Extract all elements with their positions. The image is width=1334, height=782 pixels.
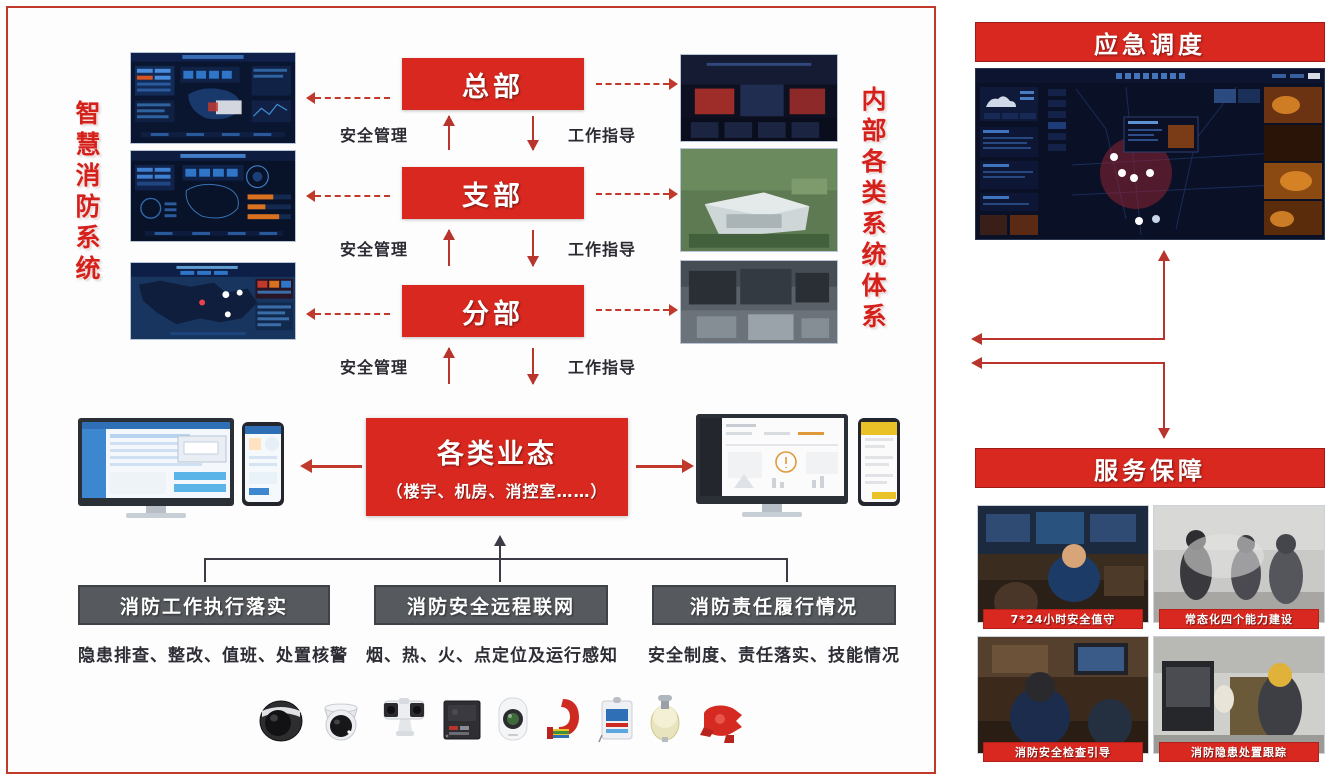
dashed-line bbox=[596, 193, 669, 195]
right-panel-connectors bbox=[975, 252, 1325, 437]
capability-box-execution[interactable]: 消防工作执行落实 bbox=[78, 585, 330, 625]
arrow-shaft bbox=[312, 465, 362, 468]
dashed-connector-right-3 bbox=[596, 304, 678, 316]
business-types-title: 各类业态 bbox=[437, 432, 557, 471]
fire-extinguisher-glyph bbox=[646, 693, 684, 743]
business-types-box[interactable]: 各类业态 （楼宇、机房、消控室……） bbox=[366, 418, 628, 516]
system-thumbnail-3[interactable] bbox=[130, 262, 296, 340]
arrow-biz-to-right-terminal bbox=[636, 460, 694, 472]
service-caption-2: 常态化四个能力建设 bbox=[1159, 609, 1319, 629]
arrowhead-left-2 bbox=[971, 357, 982, 369]
desktop-phone-graphic-left bbox=[74, 416, 290, 520]
control-panel-icon bbox=[441, 697, 483, 748]
arrowhead-down bbox=[1158, 428, 1170, 439]
arrow-shaft-down bbox=[1163, 362, 1165, 428]
fire-hose-reel-glyph bbox=[543, 695, 587, 743]
dashed-line bbox=[596, 83, 669, 85]
arrowhead-left bbox=[306, 92, 315, 104]
panel-title-smart-fire-system: 智慧消防系统 bbox=[68, 100, 104, 286]
arrow-biz-to-left-terminal bbox=[300, 460, 362, 472]
emergency-dispatch-screenshot[interactable] bbox=[975, 68, 1325, 240]
service-caption-4: 消防隐患处置跟踪 bbox=[1159, 742, 1319, 762]
arrowhead-up bbox=[494, 535, 506, 546]
internal-system-thumbnail-3[interactable] bbox=[680, 260, 838, 344]
service-caption-1: 7*24小时安全值守 bbox=[983, 609, 1143, 629]
arrowhead-up bbox=[443, 347, 455, 358]
capability-box-responsibility[interactable]: 消防责任履行情况 bbox=[652, 585, 896, 625]
service-photo-2[interactable] bbox=[1153, 505, 1325, 623]
arrowhead-right bbox=[669, 188, 678, 200]
ptz-camera-glyph bbox=[376, 693, 432, 743]
service-photo-3[interactable] bbox=[977, 636, 1149, 754]
service-guarantee-header[interactable]: 服务保障 bbox=[975, 448, 1325, 488]
arrowhead-right bbox=[669, 304, 678, 316]
up-arrow-2 bbox=[442, 230, 456, 266]
service-photo-1[interactable] bbox=[977, 505, 1149, 623]
bracket-stub-left bbox=[204, 558, 206, 582]
dashed-connector-left-2 bbox=[306, 190, 390, 202]
campus-aerial-photo bbox=[681, 149, 837, 252]
dome-camera-icon bbox=[256, 697, 306, 748]
internal-system-thumbnail-1[interactable] bbox=[680, 54, 838, 142]
level-box-sub-branch[interactable]: 分部 bbox=[402, 285, 584, 337]
desktop-phone-graphic-right bbox=[694, 412, 906, 520]
arrowhead-down bbox=[527, 374, 539, 385]
service-photo-4[interactable] bbox=[1153, 636, 1325, 754]
connector-line-1 bbox=[981, 338, 1165, 340]
arrowhead-left bbox=[300, 459, 312, 473]
arrowhead-left-1 bbox=[971, 333, 982, 345]
arrow-shaft bbox=[636, 465, 682, 468]
command-center-photo bbox=[681, 55, 837, 142]
dashed-line bbox=[596, 309, 669, 311]
flow-label-safety-management-2: 安全管理 bbox=[340, 236, 408, 260]
arrowhead-left bbox=[306, 190, 315, 202]
dashed-line bbox=[315, 195, 390, 197]
flow-label-work-guidance-1: 工作指导 bbox=[568, 122, 636, 146]
dome-camera-glyph bbox=[256, 697, 306, 743]
system-thumbnail-2[interactable] bbox=[130, 150, 296, 242]
fire-hydrant-glyph bbox=[694, 699, 746, 743]
arrowhead-up bbox=[443, 229, 455, 240]
monitoring-room-photo bbox=[681, 261, 837, 344]
turret-camera-icon bbox=[316, 697, 366, 748]
alarm-controller-icon bbox=[597, 695, 637, 748]
level-box-branch[interactable]: 支部 bbox=[402, 167, 584, 219]
arrowhead-up bbox=[1158, 250, 1170, 261]
turret-camera-glyph bbox=[316, 697, 366, 743]
business-types-subtitle: （楼宇、机房、消控室……） bbox=[386, 478, 607, 502]
control-panel-glyph bbox=[441, 697, 483, 743]
down-arrow-1 bbox=[526, 116, 540, 150]
service-caption-3: 消防安全检查引导 bbox=[983, 742, 1143, 762]
poster-root: 智慧消防系统 内部各类系统体系 bbox=[0, 0, 1334, 782]
arrowhead-right bbox=[669, 78, 678, 90]
arrow-shaft bbox=[499, 542, 501, 582]
fire-hydrant-icon bbox=[694, 699, 746, 748]
dashed-connector-left-1 bbox=[306, 92, 390, 104]
capability-box-remote-network[interactable]: 消防安全远程联网 bbox=[374, 585, 608, 625]
ptz-camera-icon bbox=[376, 693, 432, 748]
down-arrow-3 bbox=[526, 348, 540, 384]
arrowhead-down bbox=[527, 256, 539, 267]
drill-training-photo bbox=[1154, 506, 1324, 622]
dashboard-graphic-1 bbox=[131, 53, 295, 144]
flow-label-work-guidance-2: 工作指导 bbox=[568, 236, 636, 260]
duty-room-photo bbox=[978, 506, 1148, 622]
smart-fire-system-panel: 智慧消防系统 内部各类系统体系 bbox=[6, 6, 936, 774]
arrow-shaft-up bbox=[1163, 260, 1165, 340]
capability-desc-responsibility: 安全制度、责任落实、技能情况 bbox=[646, 641, 902, 666]
flow-label-safety-management-1: 安全管理 bbox=[340, 122, 408, 146]
arrowhead-down bbox=[527, 140, 539, 151]
device-strip bbox=[256, 690, 746, 748]
capability-desc-remote-network: 烟、热、火、点定位及运行感知 bbox=[366, 641, 616, 666]
flow-label-safety-management-3: 安全管理 bbox=[340, 354, 408, 378]
fire-hose-reel-icon bbox=[543, 695, 587, 748]
bracket-up-arrow bbox=[493, 536, 507, 582]
up-arrow-1 bbox=[442, 116, 456, 150]
alarm-controller-glyph bbox=[597, 695, 637, 743]
bracket-stub-right bbox=[786, 558, 788, 582]
inspection-guidance-photo bbox=[978, 637, 1148, 753]
arrowhead-left bbox=[306, 308, 315, 320]
dashed-line bbox=[315, 97, 390, 99]
dashed-line bbox=[315, 313, 390, 315]
internal-system-thumbnail-2[interactable] bbox=[680, 148, 838, 252]
dashboard-graphic-3 bbox=[131, 263, 295, 340]
dashed-connector-left-3 bbox=[306, 308, 390, 320]
dashboard-graphic-2 bbox=[131, 151, 295, 242]
system-thumbnail-1[interactable] bbox=[130, 52, 296, 144]
level-box-headquarters[interactable]: 总部 bbox=[402, 58, 584, 110]
hazard-tracking-photo bbox=[1154, 637, 1324, 753]
up-arrow-3 bbox=[442, 348, 456, 384]
down-arrow-2 bbox=[526, 230, 540, 266]
dashed-connector-right-2 bbox=[596, 188, 678, 200]
smoke-detector-icon bbox=[493, 695, 533, 748]
smoke-detector-glyph bbox=[493, 695, 533, 743]
dashed-connector-right-1 bbox=[596, 78, 678, 90]
capability-desc-execution: 隐患排查、整改、值班、处置核警 bbox=[78, 641, 330, 666]
emergency-dispatch-header[interactable]: 应急调度 bbox=[975, 22, 1325, 62]
flow-label-work-guidance-3: 工作指导 bbox=[568, 354, 636, 378]
panel-title-internal-systems: 内部各类系统体系 bbox=[854, 86, 890, 334]
arrowhead-up bbox=[443, 115, 455, 126]
terminal-mockup-right[interactable] bbox=[694, 412, 906, 520]
dispatch-dashboard-graphic bbox=[976, 69, 1324, 239]
terminal-mockup-left[interactable] bbox=[74, 416, 290, 520]
fire-extinguisher-icon bbox=[646, 693, 684, 748]
connector-line-2 bbox=[981, 362, 1165, 364]
arrowhead-right bbox=[682, 459, 694, 473]
